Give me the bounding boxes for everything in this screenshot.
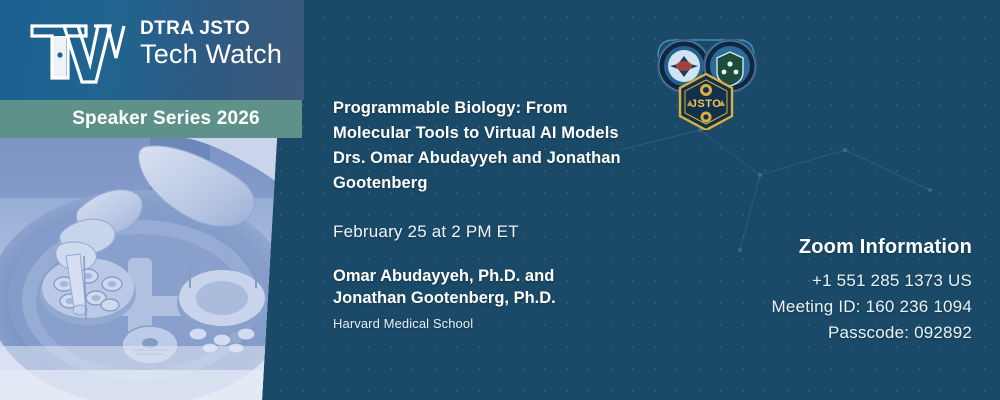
zoom-information: Zoom Information +1 551 285 1373 US Meet… <box>642 236 972 346</box>
svg-text:JSTO: JSTO <box>691 98 722 110</box>
title-line-2: Molecular Tools to Virtual AI Models <box>333 121 673 146</box>
lab-photo <box>0 138 290 400</box>
brand-header: DTRA JSTO Tech Watch <box>0 0 304 100</box>
logo-row: DTRA JSTO Tech Watch <box>24 14 282 86</box>
event-datetime: February 25 at 2 PM ET <box>333 222 519 242</box>
title-line-1: Programmable Biology: From <box>333 96 673 121</box>
tech-watch-banner: DTRA JSTO Tech Watch Speaker Series 2026 <box>0 0 1000 400</box>
brand-org-line: DTRA JSTO <box>140 19 282 38</box>
zoom-passcode: Passcode: 092892 <box>642 320 972 346</box>
centrifuge-photo-illustration <box>0 138 290 400</box>
speaker-line-1: Omar Abudayyeh, Ph.D. and <box>333 265 663 287</box>
title-line-4: Gootenberg <box>333 171 673 196</box>
zoom-phone: +1 551 285 1373 US <box>642 268 972 294</box>
event-title: Programmable Biology: From Molecular Too… <box>333 96 673 196</box>
speaker-line-2: Jonathan Gootenberg, Ph.D. <box>333 287 663 309</box>
speaker-info: Omar Abudayyeh, Ph.D. and Jonathan Goote… <box>333 265 663 331</box>
brand-program-line: Tech Watch <box>140 40 282 69</box>
speaker-series-label: Speaker Series 2026 <box>42 108 260 130</box>
zoom-meeting-id: Meeting ID: 160 236 1094 <box>642 294 972 320</box>
speaker-affiliation: Harvard Medical School <box>333 316 663 331</box>
tw-monogram-icon <box>24 14 132 86</box>
brand-text: DTRA JSTO Tech Watch <box>140 14 282 69</box>
zoom-heading: Zoom Information <box>642 236 972 259</box>
speaker-series-band: Speaker Series 2026 <box>0 100 302 138</box>
title-line-3: Drs. Omar Abudayyeh and Jonathan <box>333 146 673 171</box>
